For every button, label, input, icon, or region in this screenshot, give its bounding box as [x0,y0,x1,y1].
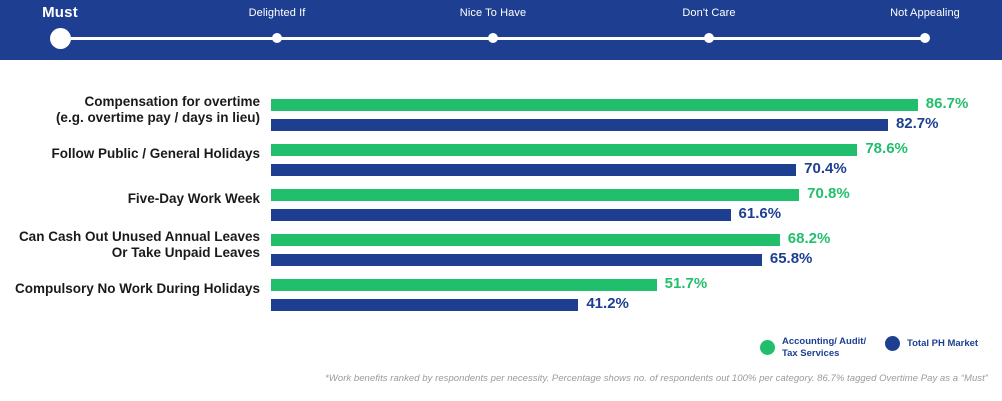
category-label: Compensation for overtime(e.g. overtime … [0,94,260,125]
chart-row: Five-Day Work Week70.8%61.6% [0,185,1002,229]
scale-dot-icon [50,28,71,49]
bar-blue: 70.4% [271,164,796,176]
scale-label: Must [42,4,78,21]
chart-row: Follow Public / General Holidays78.6%70.… [0,140,1002,184]
bar-blue: 65.8% [271,254,762,266]
chart-row: Compulsory No Work During Holidays51.7%4… [0,275,1002,319]
bar-green: 70.8% [271,189,799,201]
bar-green: 78.6% [271,144,857,156]
chart-row: Can Cash Out Unused Annual LeavesOr Take… [0,230,1002,274]
bar-value-label: 70.4% [804,160,847,177]
bar-fill [271,119,888,131]
category-label-line: Compensation for overtime [0,94,260,110]
scale-dot-icon [272,33,282,43]
benefits-bar-chart: Compensation for overtime(e.g. overtime … [0,60,1002,320]
bar-fill [271,209,731,221]
scale-dot-icon [920,33,930,43]
category-label-line: Follow Public / General Holidays [0,146,260,162]
bar-value-label: 86.7% [926,95,969,112]
scale-label: Don't Care [682,7,735,19]
legend-label-total-ph: Total PH Market [907,338,978,350]
category-label: Follow Public / General Holidays [0,146,260,162]
bar-value-label: 61.6% [739,205,782,222]
category-label: Compulsory No Work During Holidays [0,281,260,297]
bar-green: 86.7% [271,99,918,111]
bar-value-label: 68.2% [788,230,831,247]
legend-green-dot-icon [760,340,775,355]
scale-dot-icon [704,33,714,43]
category-label-line: (e.g. overtime pay / days in lieu) [0,110,260,126]
bar-value-label: 82.7% [896,115,939,132]
bar-fill [271,144,857,156]
necessity-scale-band: MustDelighted IfNice To HaveDon't CareNo… [0,0,1002,60]
bar-fill [271,234,780,246]
legend-label-accounting: Accounting/ Audit/ Tax Services [782,336,866,359]
bar-value-label: 51.7% [665,275,708,292]
category-label-line: Compulsory No Work During Holidays [0,281,260,297]
category-label-line: Or Take Unpaid Leaves [0,245,260,261]
bar-value-label: 78.6% [865,140,908,157]
scale-label: Delighted If [249,7,306,19]
bar-fill [271,189,799,201]
legend-item-total-ph: Total PH Market [885,336,978,351]
legend-blue-dot-icon [885,336,900,351]
bar-blue: 61.6% [271,209,731,221]
category-label: Five-Day Work Week [0,191,260,207]
bar-value-label: 65.8% [770,250,813,267]
scale-label: Nice To Have [460,7,526,19]
bar-fill [271,254,762,266]
bar-fill [271,99,918,111]
bar-fill [271,299,578,311]
bar-green: 51.7% [271,279,657,291]
chart-footnote: *Work benefits ranked by respondents per… [0,373,988,384]
scale-dot-icon [488,33,498,43]
category-label-line: Can Cash Out Unused Annual Leaves [0,229,260,245]
chart-row: Compensation for overtime(e.g. overtime … [0,95,1002,139]
chart-legend: Accounting/ Audit/ Tax Services Total PH… [760,336,1000,366]
legend-item-accounting: Accounting/ Audit/ Tax Services [760,336,866,359]
category-label-line: Five-Day Work Week [0,191,260,207]
bar-green: 68.2% [271,234,780,246]
bar-blue: 41.2% [271,299,578,311]
bar-fill [271,279,657,291]
bar-value-label: 41.2% [586,295,629,312]
bar-fill [271,164,796,176]
scale-label: Not Appealing [890,7,960,19]
bar-value-label: 70.8% [807,185,850,202]
category-label: Can Cash Out Unused Annual LeavesOr Take… [0,229,260,260]
bar-blue: 82.7% [271,119,888,131]
